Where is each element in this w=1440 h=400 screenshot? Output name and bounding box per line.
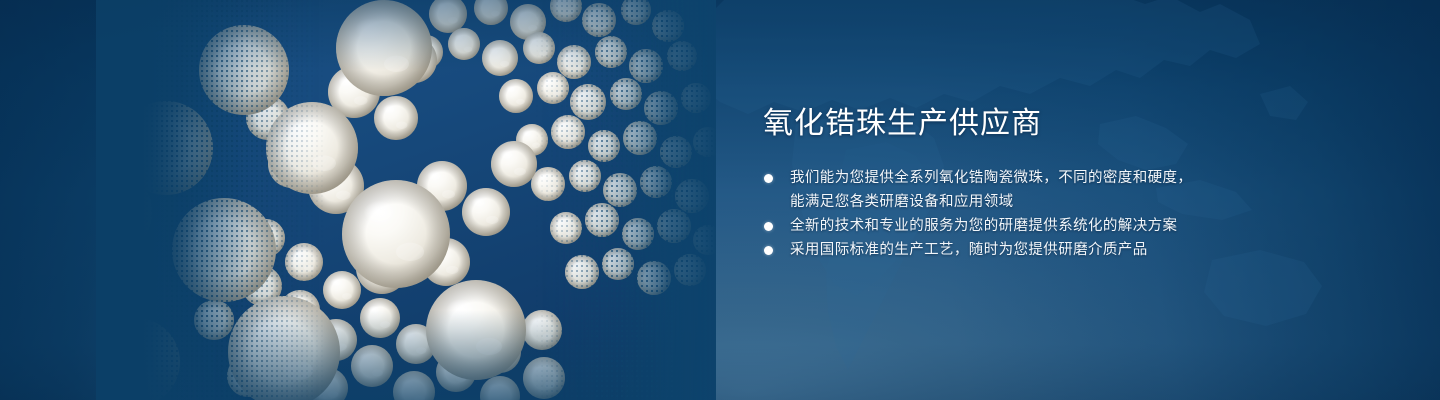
bullet-text-line-1: 采用国际标准的生产工艺，随时为您提供研磨介质产品 [790,242,1148,258]
list-item: 全新的技术和专业的服务为您的研磨提供系统化的解决方案 [763,214,1203,238]
bullet-text-line-1: 全新的技术和专业的服务为您的研磨提供系统化的解决方案 [790,218,1177,234]
list-item: 采用国际标准的生产工艺，随时为您提供研磨介质产品 [763,238,1203,262]
banner-bullet-list: 我们能为您提供全系列氧化锆陶瓷微珠，不同的密度和硬度， 能满足您各类研磨设备和应… [763,166,1203,262]
banner-copy: 氧化锆珠生产供应商 我们能为您提供全系列氧化锆陶瓷微珠，不同的密度和硬度， 能满… [763,104,1203,262]
bullet-dot-icon [764,246,773,255]
photo-left-solid-fade [96,0,246,400]
zirconia-beads-photo [96,0,716,400]
photo-right-halftone-fade [536,0,716,400]
list-item: 我们能为您提供全系列氧化锆陶瓷微珠，不同的密度和硬度， 能满足您各类研磨设备和应… [763,166,1203,214]
hero-banner: 氧化锆珠生产供应商 我们能为您提供全系列氧化锆陶瓷微珠，不同的密度和硬度， 能满… [0,0,1440,400]
bullet-text-line-1: 我们能为您提供全系列氧化锆陶瓷微珠，不同的密度和硬度， [790,170,1192,186]
bullet-dot-icon [764,222,773,231]
banner-headline: 氧化锆珠生产供应商 [763,104,1203,144]
bullet-dot-icon [764,174,773,183]
bullet-text-line-2: 能满足您各类研磨设备和应用领域 [790,190,1203,214]
